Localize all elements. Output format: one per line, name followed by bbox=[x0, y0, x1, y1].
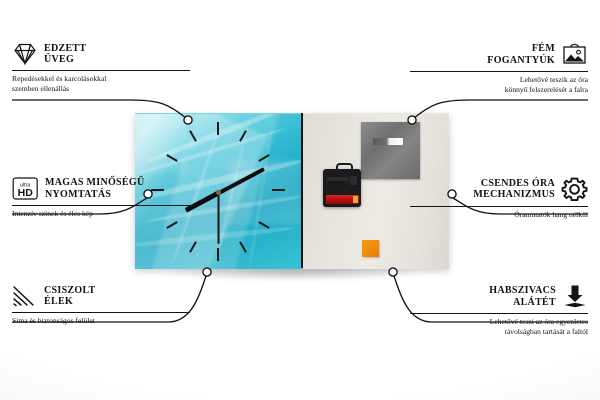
hanger-slot bbox=[373, 138, 403, 145]
callout-title: CSISZOLTÉLEK bbox=[44, 285, 96, 308]
callout-subtitle: Óramutatók hang nélkül bbox=[410, 210, 588, 220]
callout-high-quality-print[interactable]: ultra HD MAGAS MINŐSÉGŰNYOMTATÁS Intenzí… bbox=[12, 176, 190, 219]
foam-pad-sticker bbox=[362, 240, 379, 257]
callout-subtitle: Sima és biztonságos felület bbox=[12, 316, 190, 326]
callout-divider bbox=[410, 313, 588, 314]
callout-divider bbox=[12, 205, 190, 206]
mechanism-slot bbox=[327, 177, 349, 181]
picture-hanger-icon bbox=[561, 42, 588, 67]
callout-foam-pad[interactable]: HABSZIVACSALÁTÉT Lehetővé teszi az óra e… bbox=[410, 284, 588, 336]
callout-polished-edges[interactable]: CSISZOLTÉLEK Sima és biztonságos felület bbox=[12, 284, 190, 326]
callout-divider bbox=[12, 312, 190, 313]
callout-divider bbox=[12, 70, 190, 71]
callout-subtitle: Repedésekkel és karcolásokkalszemben ell… bbox=[12, 74, 190, 93]
clock-center-cap bbox=[216, 190, 221, 195]
minute-hand bbox=[218, 167, 265, 194]
gear-icon bbox=[561, 176, 588, 202]
metal-hanger-plate bbox=[361, 122, 420, 179]
ultra-hd-icon: ultra HD bbox=[12, 176, 39, 201]
battery bbox=[326, 195, 359, 204]
callout-subtitle: Lehetővé teszik az órakönnyű felszerelés… bbox=[410, 75, 588, 94]
callout-subtitle: Lehetővé teszi az óra egyenletestávolság… bbox=[410, 317, 588, 336]
callout-divider bbox=[410, 71, 588, 72]
svg-text:HD: HD bbox=[18, 187, 34, 199]
callout-title: FÉMFOGANTYÚK bbox=[487, 43, 555, 66]
polished-edges-icon bbox=[12, 284, 38, 308]
second-hand bbox=[218, 193, 220, 244]
callout-silent-mechanism[interactable]: CSENDES ÓRAMECHANIZMUS Óramutatók hang n… bbox=[410, 176, 588, 220]
foam-pad-icon bbox=[562, 284, 588, 309]
diamond-icon bbox=[12, 42, 38, 66]
mechanism-knob bbox=[350, 176, 357, 185]
callout-title: EDZETTÜVEG bbox=[44, 43, 86, 66]
battery-terminal bbox=[353, 196, 358, 203]
callout-divider bbox=[410, 206, 588, 207]
infographic-canvas: EDZETTÜVEG Repedésekkel és karcolásokkal… bbox=[0, 0, 600, 400]
callout-metal-handles[interactable]: FÉMFOGANTYÚK Lehetővé teszik az órakönny… bbox=[410, 42, 588, 94]
callout-title: HABSZIVACSALÁTÉT bbox=[489, 285, 556, 308]
callout-tempered-glass[interactable]: EDZETTÜVEG Repedésekkel és karcolásokkal… bbox=[12, 42, 190, 93]
clock-mechanism bbox=[323, 169, 361, 207]
callout-subtitle: Intenzív színek és éles kép bbox=[12, 209, 190, 219]
callout-title: CSENDES ÓRAMECHANIZMUS bbox=[473, 178, 555, 201]
callout-title: MAGAS MINŐSÉGŰNYOMTATÁS bbox=[45, 177, 144, 200]
mechanism-loop bbox=[336, 163, 353, 174]
